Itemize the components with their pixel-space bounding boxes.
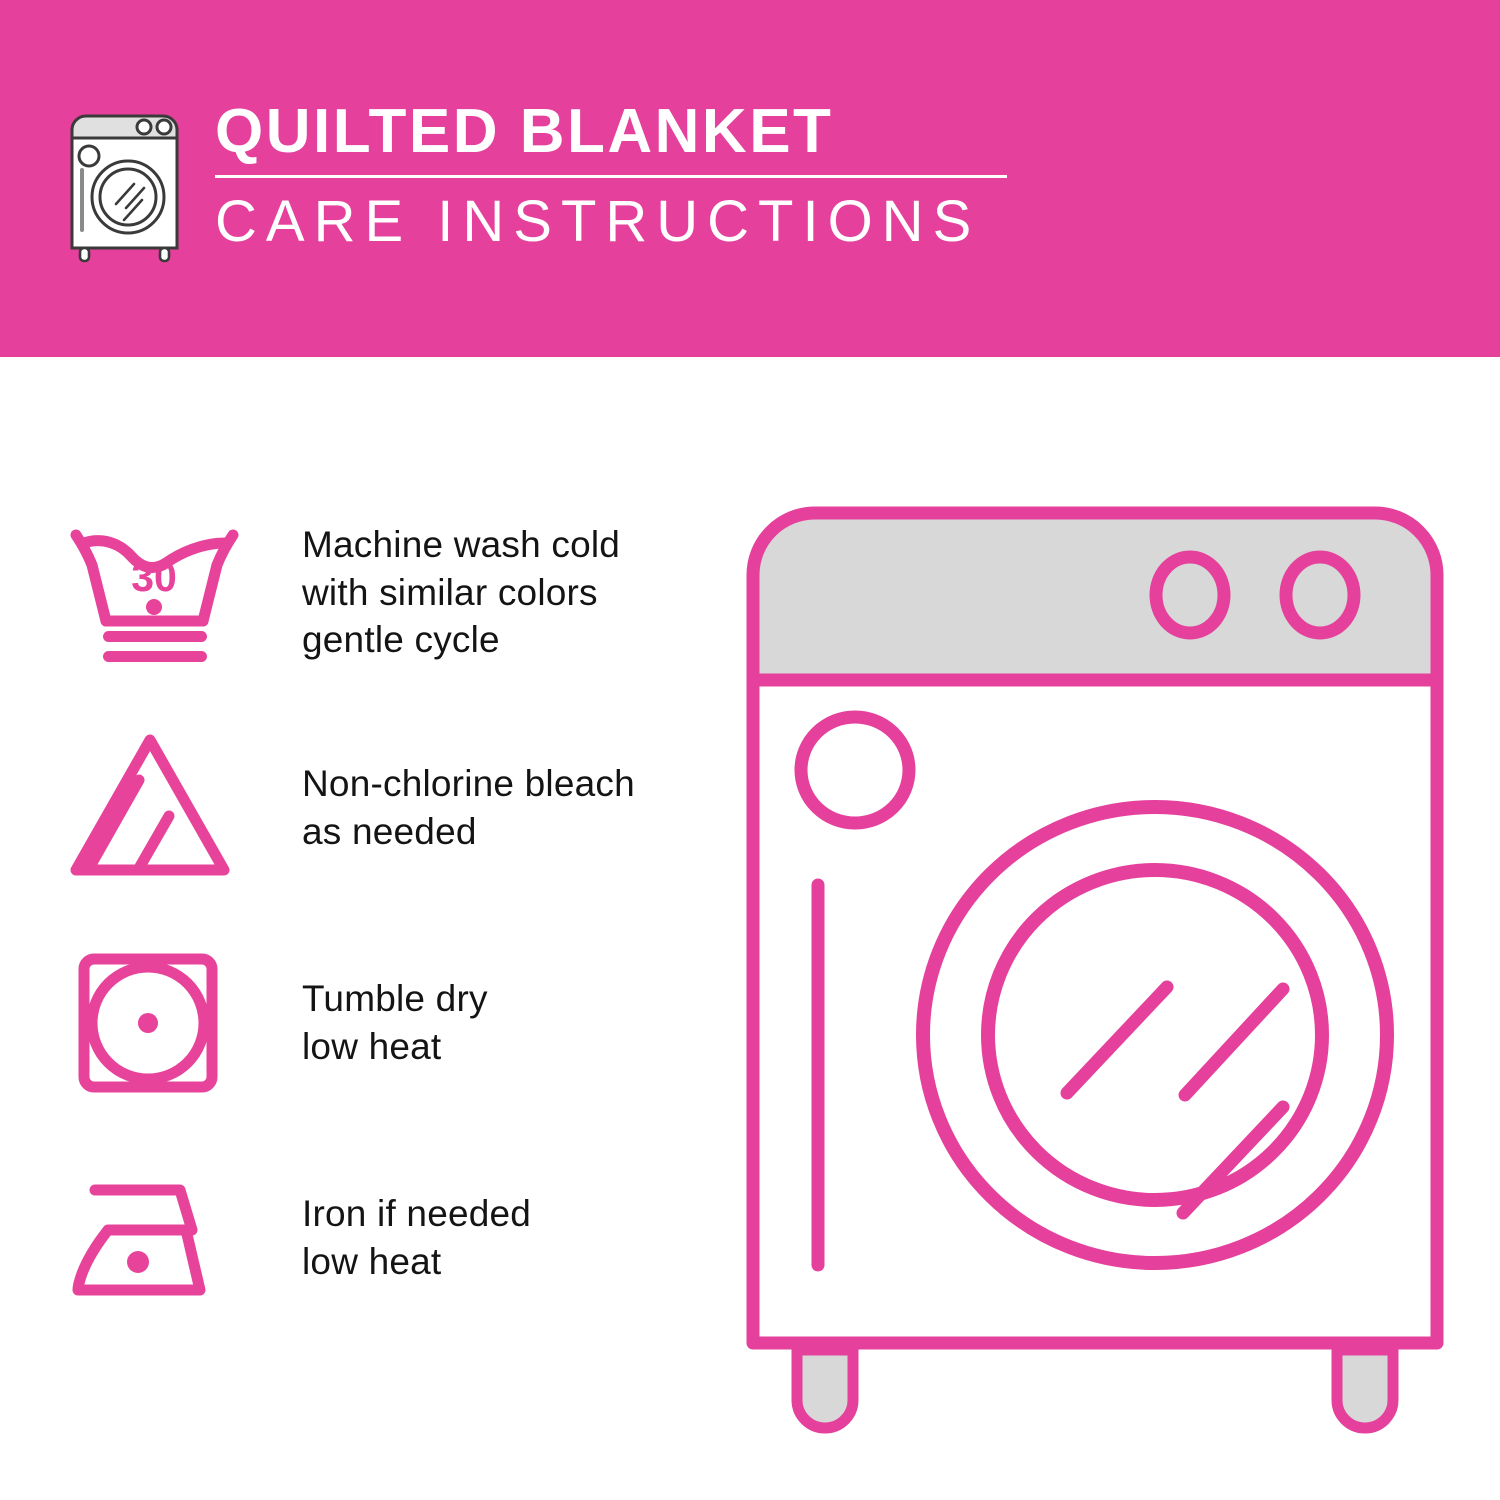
title-divider <box>215 175 1007 178</box>
care-text-bleach: Non-chlorine bleach as needed <box>302 760 635 855</box>
washer-knob-left <box>1156 557 1224 633</box>
care-line: as needed <box>302 808 635 855</box>
care-instructions-list: 30 Machine wash cold with similar colors… <box>62 505 722 1325</box>
header-text-block: QUILTED BLANKET CARE INSTRUCTIONS <box>215 100 1007 251</box>
detergent-dispenser-icon <box>801 717 909 823</box>
care-row-iron: Iron if needed low heat <box>62 1150 722 1325</box>
page-title: QUILTED BLANKET <box>215 100 1007 163</box>
care-row-bleach: Non-chlorine bleach as needed <box>62 720 722 895</box>
care-line: Iron if needed <box>302 1190 531 1237</box>
care-line: gentle cycle <box>302 616 620 663</box>
washing-machine-illustration <box>735 495 1455 1435</box>
care-line: Non-chlorine bleach <box>302 760 635 807</box>
washer-knob-right <box>1286 557 1354 633</box>
washing-machine-icon <box>62 108 187 263</box>
iron-icon <box>62 1158 247 1318</box>
care-text-tumble-dry: Tumble dry low heat <box>302 975 488 1070</box>
header-content: QUILTED BLANKET CARE INSTRUCTIONS <box>62 100 1007 263</box>
care-row-wash: 30 Machine wash cold with similar colors… <box>62 505 722 680</box>
header-banner: QUILTED BLANKET CARE INSTRUCTIONS <box>0 0 1500 357</box>
care-line: with similar colors <box>302 569 620 616</box>
bleach-triangle-icon <box>62 728 247 888</box>
washer-legs <box>797 1350 1393 1428</box>
care-instructions-poster: QUILTED BLANKET CARE INSTRUCTIONS 30 <box>0 0 1500 1500</box>
care-text-wash: Machine wash cold with similar colors ge… <box>302 521 620 663</box>
care-line: low heat <box>302 1238 531 1285</box>
care-line: Tumble dry <box>302 975 488 1022</box>
care-row-tumble-dry: Tumble dry low heat <box>62 935 722 1110</box>
page-subtitle: CARE INSTRUCTIONS <box>215 192 1007 251</box>
wash-temperature-label: 30 <box>131 554 177 600</box>
washer-door-inner <box>988 870 1322 1200</box>
care-line: low heat <box>302 1023 488 1070</box>
care-text-iron: Iron if needed low heat <box>302 1190 531 1285</box>
tumble-dry-square-icon <box>62 943 247 1103</box>
wash-tub-30-icon: 30 <box>62 513 247 673</box>
care-line: Machine wash cold <box>302 521 620 568</box>
